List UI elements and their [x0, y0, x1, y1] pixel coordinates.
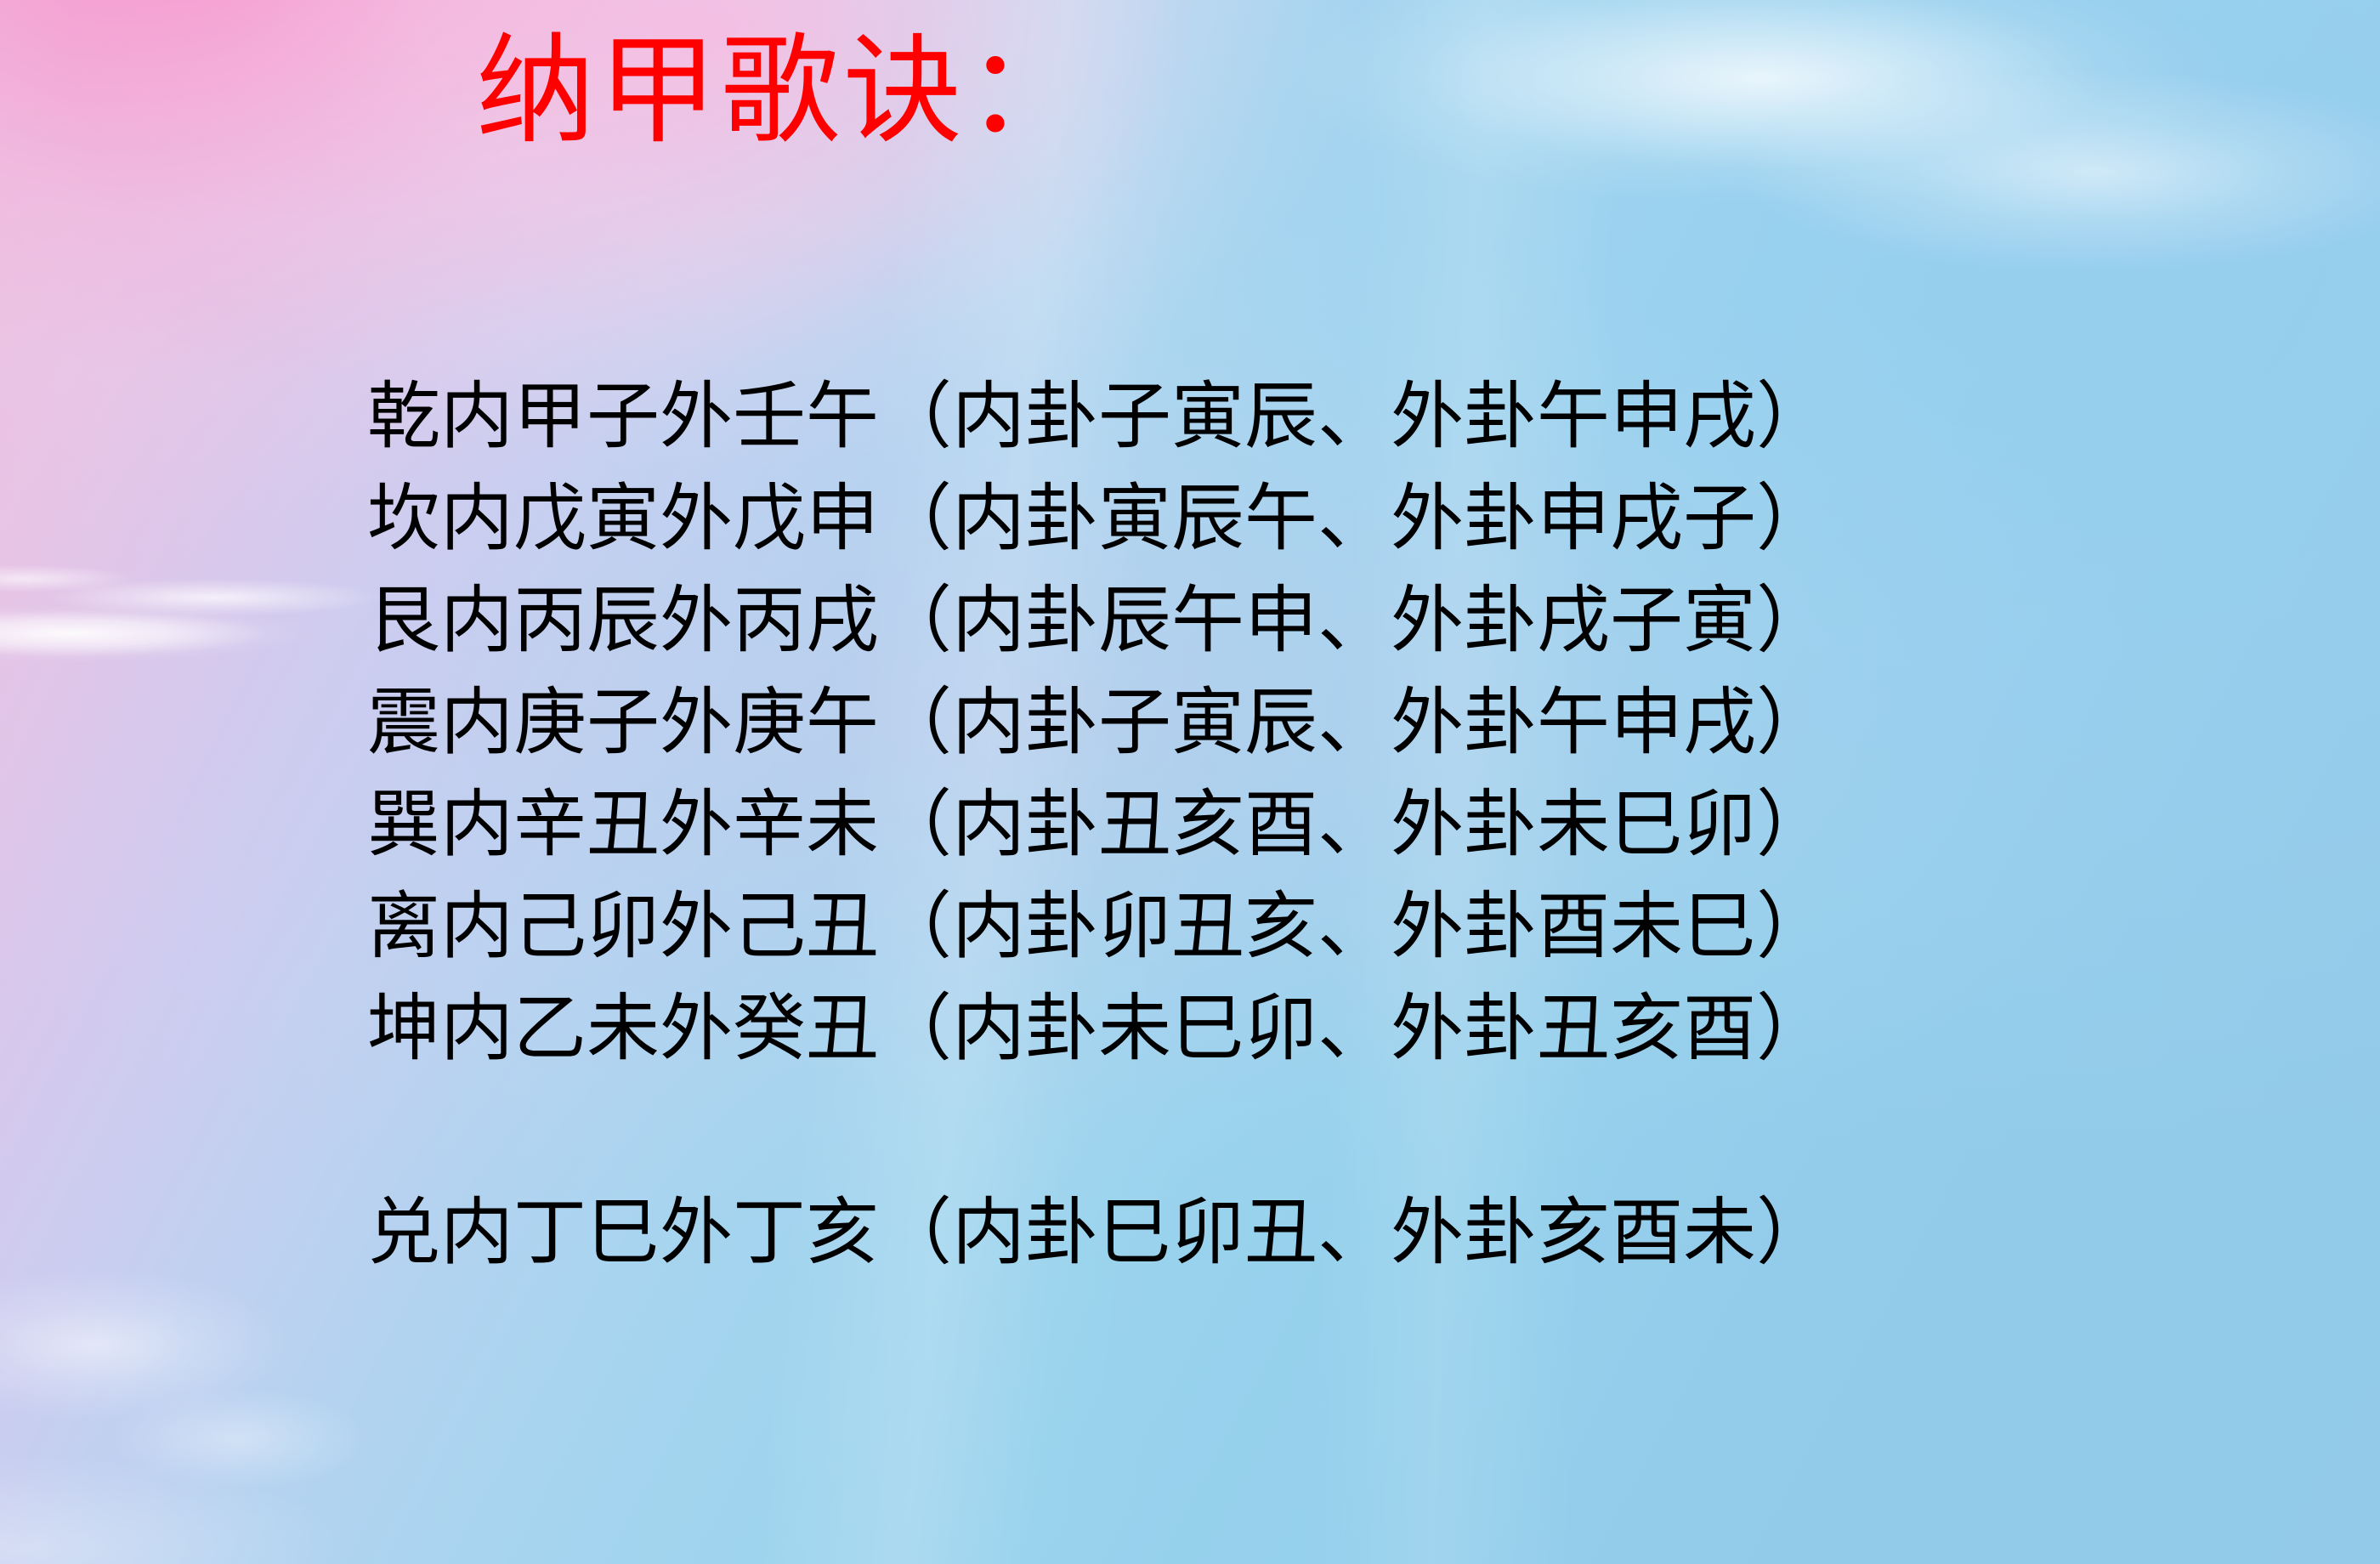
verse-line: 坤内乙未外癸丑（内卦未巳卯、外卦丑亥酉）	[367, 977, 2169, 1079]
verse-list: 乾内甲子外壬午（内卦子寅辰、外卦午申戌） 坎内戊寅外戊申（内卦寅辰午、外卦申戌子…	[367, 365, 2169, 1283]
verse-line: 巽内辛丑外辛未（内卦丑亥酉、外卦未巳卯）	[367, 773, 2169, 875]
verse-line: 坎内戊寅外戊申（内卦寅辰午、外卦申戌子）	[367, 467, 2169, 569]
verse-line: 兑内丁巳外丁亥（内卦巳卯丑、外卦亥酉未）	[367, 1181, 2169, 1283]
page-title: 纳甲歌诀：	[0, 32, 1564, 151]
verse-line: 离内己卯外己丑（内卦卯丑亥、外卦酉未巳）	[367, 875, 2169, 977]
verse-line: 震内庚子外庚午（内卦子寅辰、外卦午申戌）	[367, 671, 2169, 773]
slide-canvas: 纳甲歌诀： 乾内甲子外壬午（内卦子寅辰、外卦午申戌） 坎内戊寅外戊申（内卦寅辰午…	[0, 0, 2380, 1564]
slide-content: 纳甲歌诀： 乾内甲子外壬午（内卦子寅辰、外卦午申戌） 坎内戊寅外戊申（内卦寅辰午…	[0, 0, 2380, 1564]
verse-line: 艮内丙辰外丙戌（内卦辰午申、外卦戌子寅）	[367, 569, 2169, 671]
verse-line: 乾内甲子外壬午（内卦子寅辰、外卦午申戌）	[367, 365, 2169, 467]
